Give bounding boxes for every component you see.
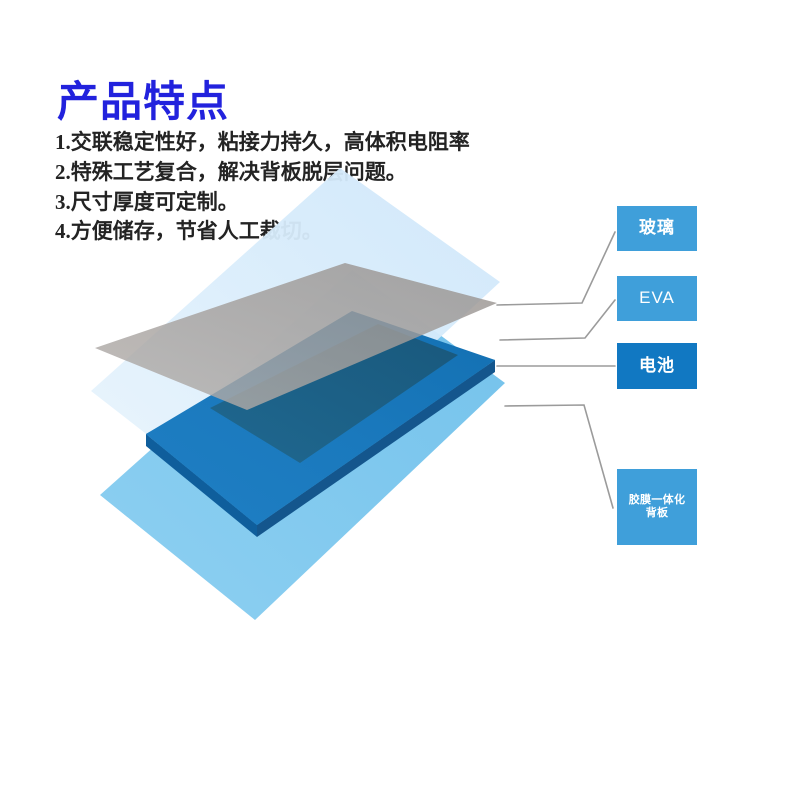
callout-box-glass[interactable]: 玻璃 [617,206,697,251]
leader-lines-group [497,232,615,508]
callout-box-cell[interactable]: 电池 [617,343,697,389]
callout-label-cell: 电池 [639,356,675,376]
slide-canvas: 产品特点 1.交联稳定性好，粘接力持久，高体积电阻率 2.特殊工艺复合，解决背板… [0,0,800,800]
callout-label-eva: EVA [639,288,675,308]
leader-line-eva [500,300,615,340]
leader-line-backsheet [505,405,613,508]
callout-box-eva[interactable]: EVA [617,276,697,321]
callout-label-backsheet: 胶膜一体化 背板 [629,494,686,520]
callout-label-glass: 玻璃 [639,218,675,238]
callout-label-backsheet-line1: 胶膜一体化 [629,494,686,507]
layer-stack-svg [0,0,800,800]
callout-label-backsheet-line2: 背板 [629,507,686,520]
exploded-layer-diagram [0,0,800,800]
callout-box-backsheet[interactable]: 胶膜一体化 背板 [617,469,697,545]
leader-line-glass [497,232,615,305]
